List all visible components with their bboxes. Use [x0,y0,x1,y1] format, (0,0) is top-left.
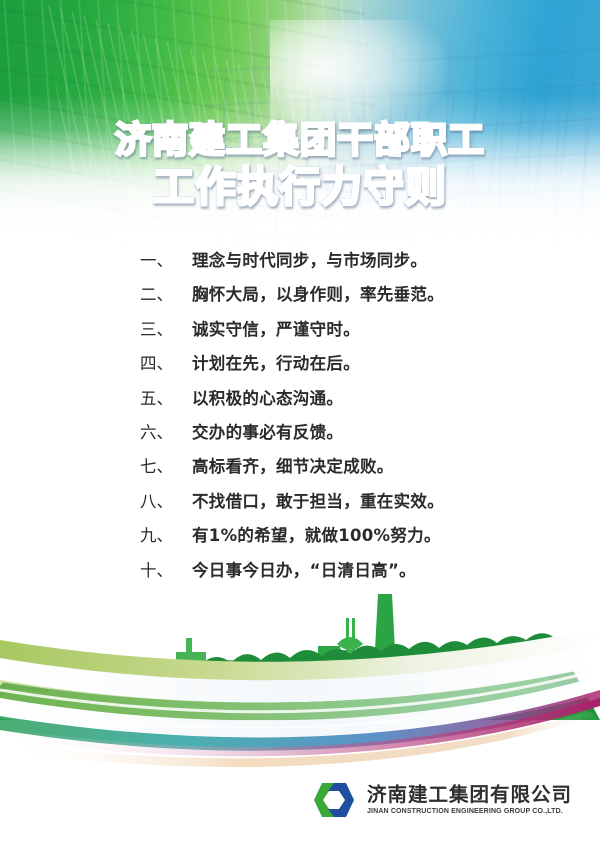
page-title: 济南建工集团干部职工 工作执行力守则 [0,122,600,209]
logo-blue-shape [328,783,354,817]
rule-number: 六、 [140,419,192,443]
company-name-block: 济南建工集团有限公司 JINAN CONSTRUCTION ENGINEERIN… [367,785,572,815]
rule-number: 四、 [140,350,192,374]
title-line-1: 济南建工集团干部职工 [0,122,600,161]
list-item: 七、 高标看齐，细节决定成败。 [140,453,540,487]
rules-list: 一、 理念与时代同步，与市场同步。 二、 胸怀大局，以身作则，率先垂范。 三、 … [140,247,540,591]
list-item: 四、 计划在先，行动在后。 [140,350,540,384]
list-item: 十、 今日事今日办，“日清日高”。 [140,557,540,591]
rule-text: 以积极的心态沟通。 [192,385,343,409]
rule-number: 三、 [140,316,192,340]
rule-text: 今日事今日办，“日清日高”。 [192,557,416,581]
company-logo-icon [311,780,357,820]
rule-text: 高标看齐，细节决定成败。 [192,453,394,477]
rule-number: 十、 [140,557,192,581]
rule-number: 八、 [140,488,192,512]
list-item: 二、 胸怀大局，以身作则，率先垂范。 [140,281,540,315]
rule-number: 一、 [140,247,192,271]
poster-root: 济南建工集团干部职工 工作执行力守则 一、 理念与时代同步，与市场同步。 二、 … [0,0,600,842]
rule-text: 有1%的希望，就做100%努力。 [192,522,441,546]
company-name-en: JINAN CONSTRUCTION ENGINEERING GROUP CO.… [367,808,572,815]
rule-text: 交办的事必有反馈。 [192,419,343,443]
list-item: 六、 交办的事必有反馈。 [140,419,540,453]
rule-number: 七、 [140,453,192,477]
ribbon-swoosh-illustration [0,632,600,782]
company-name-cn: 济南建工集团有限公司 [367,785,572,805]
rule-text: 胸怀大局，以身作则，率先垂范。 [192,281,444,305]
company-logo: 济南建工集团有限公司 JINAN CONSTRUCTION ENGINEERIN… [311,780,572,820]
rule-text: 不找借口，敢于担当，重在实效。 [192,488,444,512]
list-item: 一、 理念与时代同步，与市场同步。 [140,247,540,281]
rule-number: 五、 [140,385,192,409]
list-item: 八、 不找借口，敢于担当，重在实效。 [140,488,540,522]
rule-text: 理念与时代同步，与市场同步。 [192,247,427,271]
title-line-2: 工作执行力守则 [0,165,600,209]
list-item: 三、 诚实守信，严谨守时。 [140,316,540,350]
rule-text: 计划在先，行动在后。 [192,350,360,374]
rule-number: 二、 [140,281,192,305]
rule-number: 九、 [140,522,192,546]
list-item: 九、 有1%的希望，就做100%努力。 [140,522,540,556]
rule-text: 诚实守信，严谨守时。 [192,316,360,340]
list-item: 五、 以积极的心态沟通。 [140,385,540,419]
